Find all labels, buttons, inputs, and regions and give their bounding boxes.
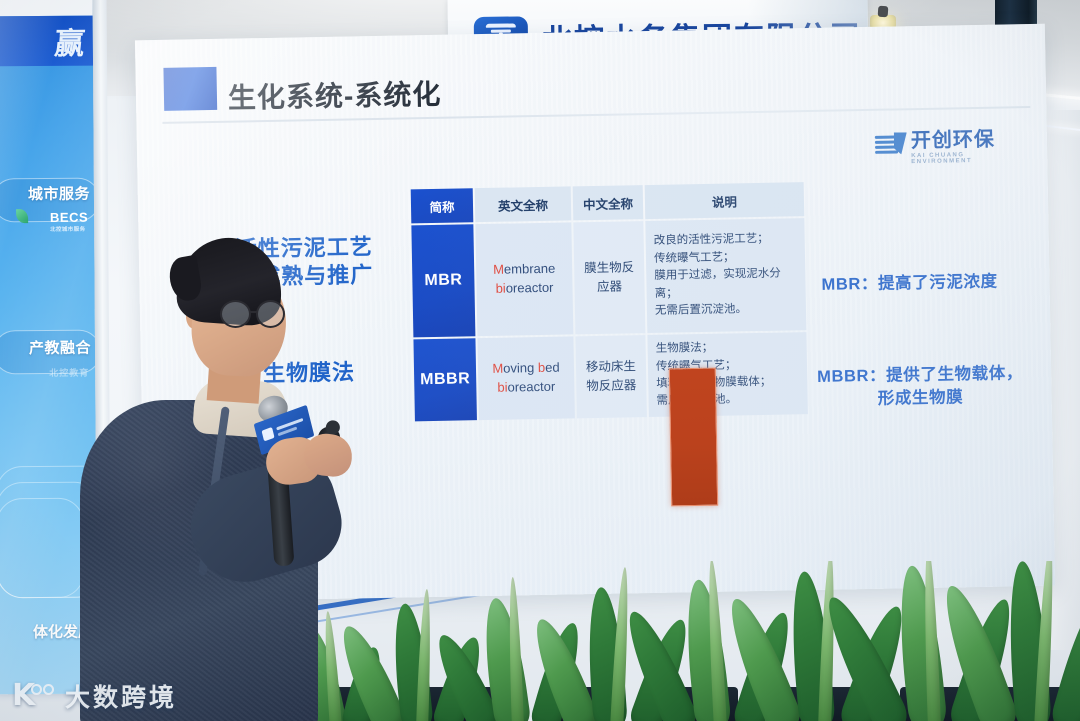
kaichuang-name-en: KAI CHUANG ENVIRONMENT xyxy=(911,151,1025,165)
cell-chinese-mbr: 膜生物反应器 xyxy=(573,221,645,334)
cell-desc-mbr: 改良的活性污泥工艺； 传统曝气工艺； 膜用于过滤，实现泥水分离； 无需后置沉淀池… xyxy=(645,218,806,333)
title-accent-square xyxy=(163,67,217,111)
table-header-row: 简称 英文全称 中文全称 说明 xyxy=(411,182,805,223)
watermark: K 大数跨境 xyxy=(12,679,177,713)
kaichuang-name-cn: 开创环保 xyxy=(911,122,1026,153)
highlight-overlay-rectangle xyxy=(669,368,718,507)
watermark-text: 大数跨境 xyxy=(65,678,177,714)
table-row: MBR Membrane bioreactor 膜生物反应器 改良的活性污泥工艺… xyxy=(411,218,806,337)
cell-chinese-mbbr: 移动床生物反应器 xyxy=(575,335,646,418)
cell-english-mbr: Membrane bioreactor xyxy=(475,222,573,336)
cell-abbr-mbr: MBR xyxy=(411,224,475,337)
slide-note-mbbr: MBBR：提供了生物载体， 形成生物膜 xyxy=(817,362,1024,412)
kaichuang-brand-logo: 开创环保 KAI CHUANG ENVIRONMENT xyxy=(875,124,1026,163)
table-header-desc: 说明 xyxy=(645,182,805,219)
slide-title: 生化系统-系统化 xyxy=(228,73,442,117)
slide-note-mbr: MBR：提高了污泥浓度 xyxy=(821,271,998,297)
eyeglasses-icon xyxy=(220,300,296,330)
table-header-abbr: 简称 xyxy=(411,188,474,223)
table-row: MBBR Moving bed bioreactor 移动床生物反应器 生物膜法… xyxy=(413,332,807,421)
comparison-table: 简称 英文全称 中文全称 说明 MBR Membrane bioreactor … xyxy=(409,180,810,423)
table-header-chinese: 中文全称 xyxy=(573,185,644,220)
table-header-english: 英文全称 xyxy=(475,186,572,222)
cell-english-mbbr: Moving bed bioreactor xyxy=(477,336,574,420)
photo-stage: 北控水务集团有限公司 BEIJING ENTERPRISES WATER GRO… xyxy=(0,0,1080,721)
cell-abbr-mbbr: MBBR xyxy=(413,338,476,421)
speaker-presenter xyxy=(70,238,340,721)
plant-row xyxy=(290,561,1080,721)
kaichuang-waves-logo-icon xyxy=(875,131,905,158)
watermark-logo-icon: K xyxy=(12,682,56,710)
